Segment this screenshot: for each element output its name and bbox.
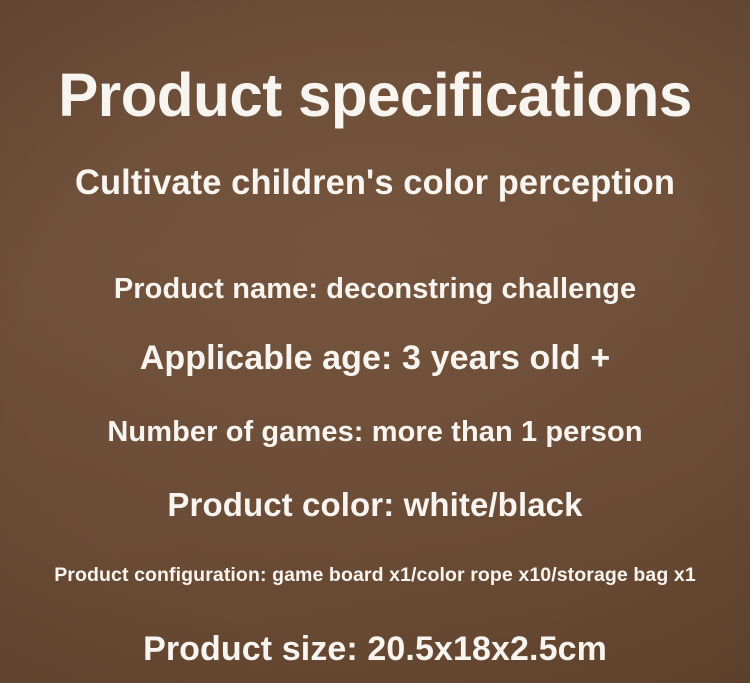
spec-product-name: Product name: deconstring challenge xyxy=(0,272,750,306)
spec-product-size: Product size: 20.5x18x2.5cm xyxy=(0,629,750,669)
spec-product-configuration: Product configuration: game board x1/col… xyxy=(0,563,750,587)
product-specifications-banner: Product specifications Cultivate childre… xyxy=(0,0,750,683)
spec-applicable-age: Applicable age: 3 years old + xyxy=(0,338,750,378)
page-subtitle: Cultivate children's color perception xyxy=(6,163,745,203)
spec-number-of-games: Number of games: more than 1 person xyxy=(0,415,750,449)
spec-product-color: Product color: white/black xyxy=(0,486,750,524)
page-title: Product specifications xyxy=(6,62,745,128)
